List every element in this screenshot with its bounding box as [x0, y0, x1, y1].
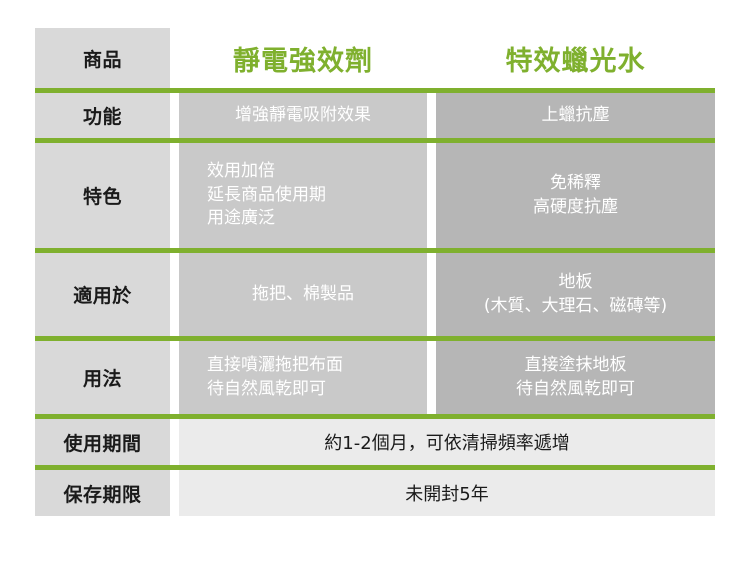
table-row: 特色 效用加倍 延長商品使用期 用途廣泛 免稀釋 高硬度抗塵: [35, 143, 715, 248]
row-label-text: 特色: [83, 182, 122, 209]
row-value-merged: 約1-2個月，可依清掃頻率遞增: [179, 419, 715, 465]
row-value-product-b: 直接塗抹地板 待自然風乾即可: [436, 341, 715, 414]
table-row: 功能 增強靜電吸附效果 上蠟抗塵: [35, 93, 715, 138]
row-label-cell: 特色: [35, 143, 170, 248]
value-line: 直接噴灑拖把布面: [207, 354, 343, 377]
row-value-product-a: 直接噴灑拖把布面 待自然風乾即可: [179, 341, 427, 414]
value-line: (木質、大理石、磁磚等): [484, 295, 667, 318]
value-line: 待自然風乾即可: [207, 378, 343, 401]
value-line: 效用加倍: [207, 160, 326, 183]
value-text: 拖把、棉製品: [252, 283, 354, 306]
row-label-cell: 適用於: [35, 253, 170, 336]
value-text-block: 直接噴灑拖把布面 待自然風乾即可: [207, 354, 343, 401]
value-line: 免稀釋: [533, 172, 618, 195]
product-comparison-table: 商品 靜電強效劑 特效蠟光水 功能 增強靜電吸附效果 上蠟抗塵 特色 效用加倍 …: [35, 28, 715, 516]
product-b-title: 特效蠟光水: [506, 39, 646, 78]
value-text-block: 效用加倍 延長商品使用期 用途廣泛: [207, 160, 326, 230]
header-product-b-cell: 特效蠟光水: [436, 28, 715, 88]
header-label-cell: 商品: [35, 28, 170, 88]
row-label-text: 保存期限: [63, 480, 141, 507]
value-text: 未開封5年: [405, 480, 488, 506]
header-label-text: 商品: [83, 45, 122, 72]
value-text-block: 地板 (木質、大理石、磁磚等): [484, 271, 667, 318]
value-text: 約1-2個月，可依清掃頻率遞增: [324, 429, 569, 455]
value-text-block: 免稀釋 高硬度抗塵: [533, 172, 618, 219]
header-product-a-cell: 靜電強效劑: [179, 28, 427, 88]
row-label-text: 使用期間: [63, 429, 141, 456]
table-row: 適用於 拖把、棉製品 地板 (木質、大理石、磁磚等): [35, 253, 715, 336]
value-line: 直接塗抹地板: [516, 354, 635, 377]
row-value-product-a: 增強靜電吸附效果: [179, 93, 427, 138]
row-value-product-a: 拖把、棉製品: [179, 253, 427, 336]
row-label-text: 適用於: [73, 281, 132, 308]
value-line: 用途廣泛: [207, 207, 326, 230]
value-line: 高硬度抗塵: [533, 196, 618, 219]
table-row: 用法 直接噴灑拖把布面 待自然風乾即可 直接塗抹地板 待自然風乾即可: [35, 341, 715, 414]
row-value-product-b: 免稀釋 高硬度抗塵: [436, 143, 715, 248]
value-line: 待自然風乾即可: [516, 378, 635, 401]
value-text: 上蠟抗塵: [542, 104, 610, 127]
row-label-cell: 用法: [35, 341, 170, 414]
row-label-text: 用法: [83, 364, 122, 391]
row-label-cell: 功能: [35, 93, 170, 138]
table-header-row: 商品 靜電強效劑 特效蠟光水: [35, 28, 715, 88]
row-value-product-b: 地板 (木質、大理石、磁磚等): [436, 253, 715, 336]
value-line: 地板: [484, 271, 667, 294]
row-value-product-b: 上蠟抗塵: [436, 93, 715, 138]
row-label-cell: 使用期間: [35, 419, 170, 465]
row-label-text: 功能: [83, 102, 122, 129]
row-value-merged: 未開封5年: [179, 470, 715, 516]
product-a-title: 靜電強效劑: [233, 39, 373, 78]
value-text-block: 直接塗抹地板 待自然風乾即可: [516, 354, 635, 401]
value-line: 延長商品使用期: [207, 184, 326, 207]
row-label-cell: 保存期限: [35, 470, 170, 516]
table-row: 使用期間 約1-2個月，可依清掃頻率遞增: [35, 419, 715, 465]
table-row: 保存期限 未開封5年: [35, 470, 715, 516]
value-text: 增強靜電吸附效果: [235, 104, 371, 127]
row-value-product-a: 效用加倍 延長商品使用期 用途廣泛: [179, 143, 427, 248]
